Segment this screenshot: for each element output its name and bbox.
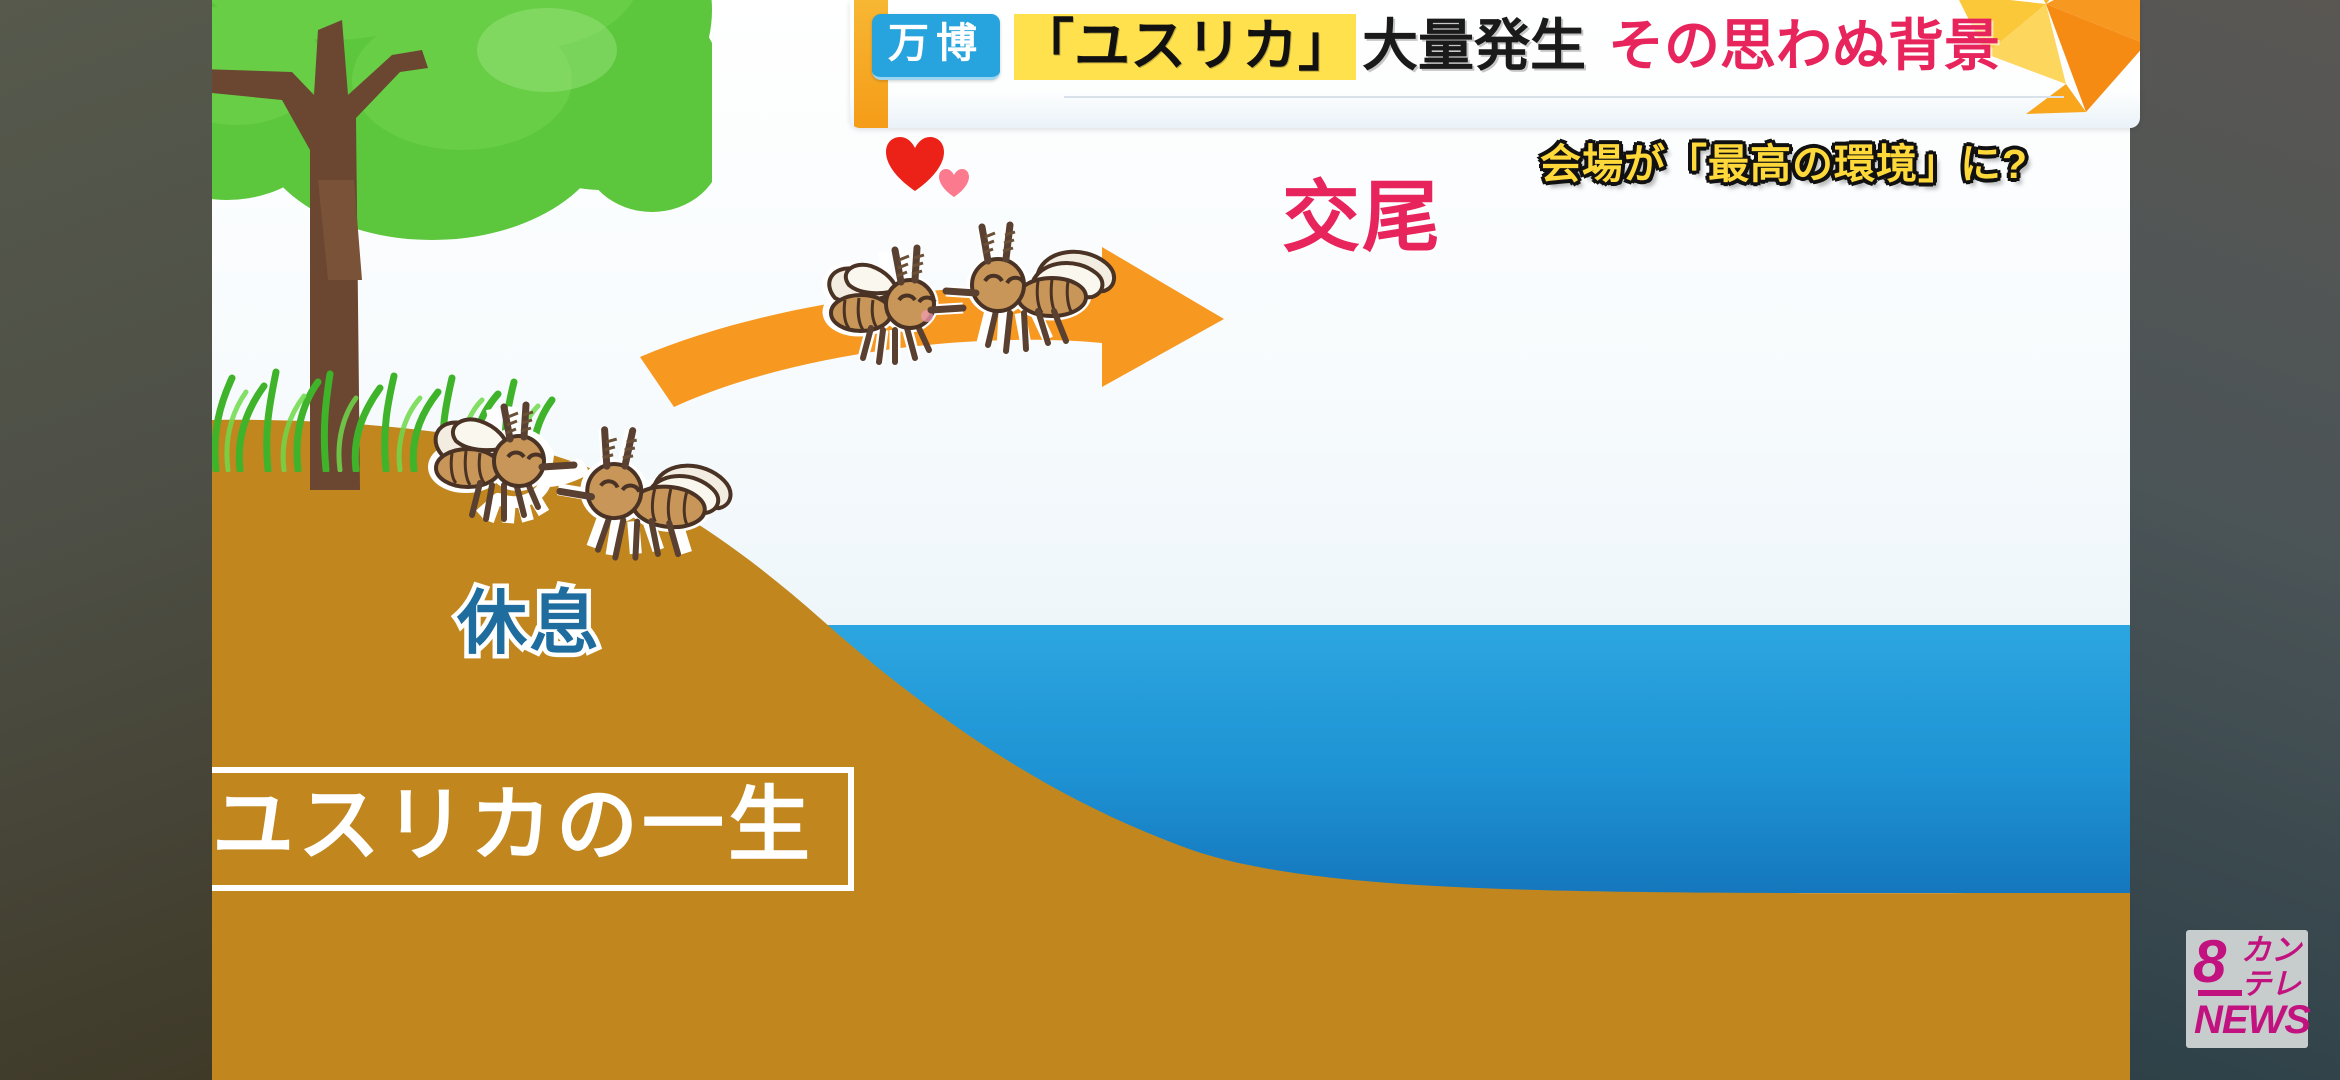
headline-underline <box>1064 96 2064 98</box>
broadcast-screen: 休息 交尾 ユスリカの一生 <box>0 0 2340 1080</box>
logo-line-1: カン <box>2241 936 2301 966</box>
label-resting: 休息 <box>457 588 601 658</box>
heart-icon-large <box>884 135 946 193</box>
headline-tail: その思わぬ背景 <box>1586 18 2000 74</box>
headline-quoted-term: 「ユスリカ」 <box>1014 14 1356 80</box>
subheadline: 会場が「最高の環境」に? <box>1540 130 2028 190</box>
letterbox-left <box>0 0 212 1080</box>
midge-resting-2 <box>535 410 750 580</box>
heart-icon-small <box>938 168 970 198</box>
logo-news-text: NEWS <box>2194 1000 2310 1040</box>
badge-expo: 万博 <box>872 14 1000 80</box>
news-headline-banner: 万博 「ユスリカ」 大量発生 その思わぬ背景 <box>850 0 2140 128</box>
midge-mating-2 <box>932 215 1117 360</box>
station-logo: 8 カン テレ NEWS <box>2186 930 2308 1048</box>
headline-mass-outbreak: 大量発生 <box>1356 18 1586 74</box>
logo-channel-number: 8 <box>2193 932 2226 992</box>
headline-row: 万博 「ユスリカ」 大量発生 その思わぬ背景 <box>872 14 2000 80</box>
letterbox-right <box>2130 0 2340 1080</box>
label-mating: 交尾 <box>1282 178 1442 256</box>
logo-line-2: テレ <box>2241 970 2301 1000</box>
lifecycle-title-text: ユスリカの一生 <box>212 783 814 869</box>
logo-underline <box>2198 990 2242 996</box>
lifecycle-title-plate: ユスリカの一生 <box>212 767 854 891</box>
